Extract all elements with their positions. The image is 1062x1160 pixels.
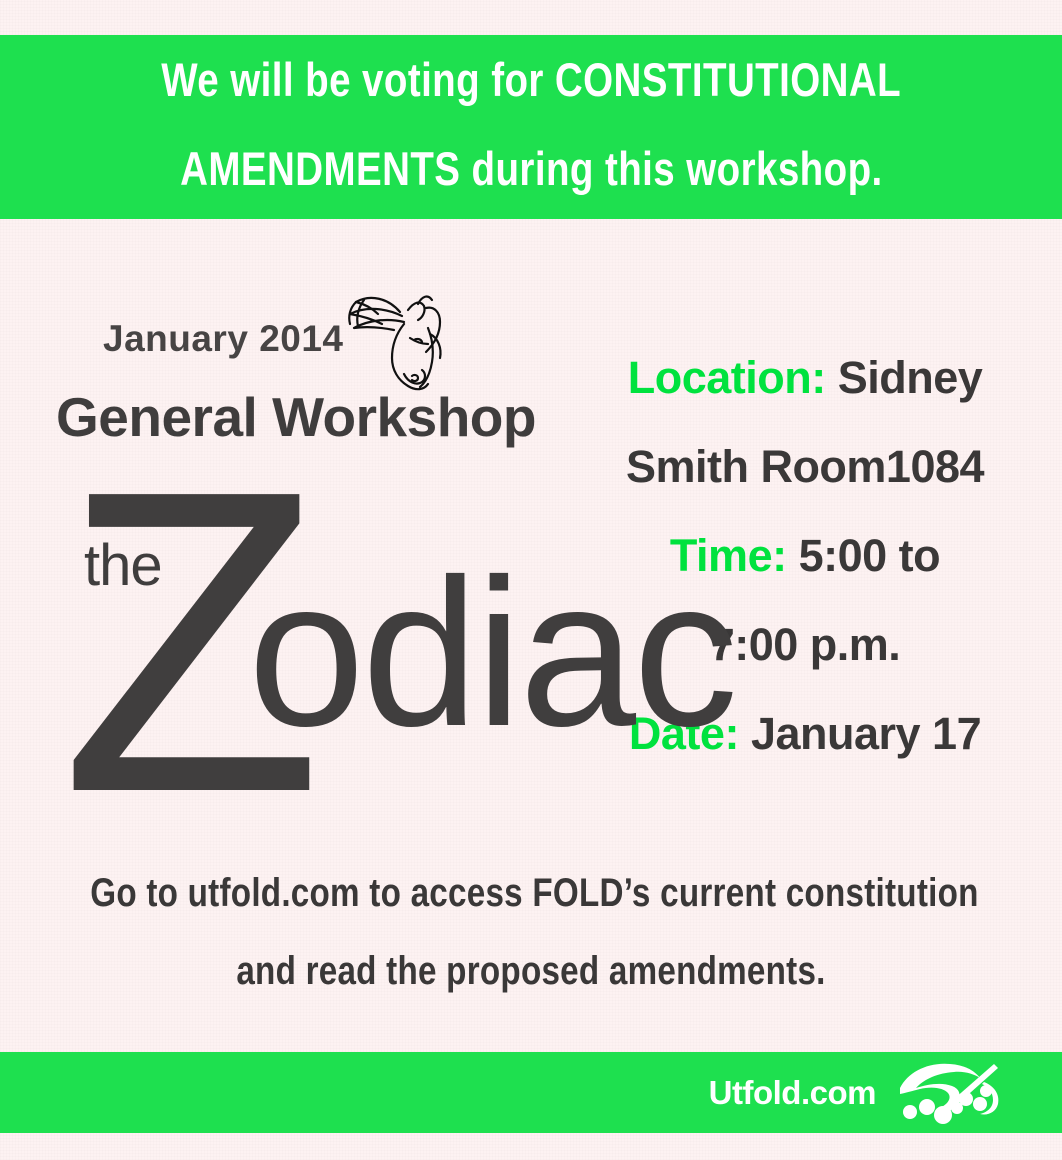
detail-location-line-2: Smith Room1084 (570, 444, 1040, 489)
footnote-block: Go to utfold.com to access FOLD’s curren… (0, 873, 1062, 991)
zodiac-brand-the: the (84, 537, 162, 595)
detail-location-line: Location: Sidney (570, 355, 1040, 400)
footnote-line-2: and read the proposed amendments. (90, 951, 971, 991)
detail-value-location: Sidney (826, 352, 983, 403)
detail-value-room: Smith Room1084 (626, 441, 984, 492)
detail-value-time-start: 5:00 to (787, 530, 941, 581)
announcement-line-2: AMENDMENTS during this workshop. (180, 145, 883, 192)
poster-canvas: We will be voting for CONSTITUTIONAL AME… (0, 0, 1062, 1160)
footer-bar: Utfold.com (0, 1052, 1062, 1133)
announcement-banner: We will be voting for CONSTITUTIONAL AME… (0, 35, 1062, 219)
event-identity-block: January 2014 General Workshop (0, 290, 570, 810)
horse-head-icon (330, 282, 460, 402)
utfold-swoosh-icon (898, 1060, 1002, 1126)
footer-brand-group: Utfold.com (709, 1052, 1002, 1133)
detail-value-time-end: 7:00 p.m. (710, 619, 901, 670)
zodiac-brand-lockup: Z the odiac (0, 485, 560, 785)
detail-label-location: Location: (628, 352, 826, 403)
announcement-line-1: We will be voting for CONSTITUTIONAL (161, 56, 901, 103)
detail-value-date: January 17 (739, 708, 981, 759)
footer-wordmark[interactable]: Utfold.com (709, 1074, 876, 1112)
event-month-year: January 2014 (103, 318, 344, 360)
zodiac-brand-odiac: odiac (248, 548, 735, 758)
